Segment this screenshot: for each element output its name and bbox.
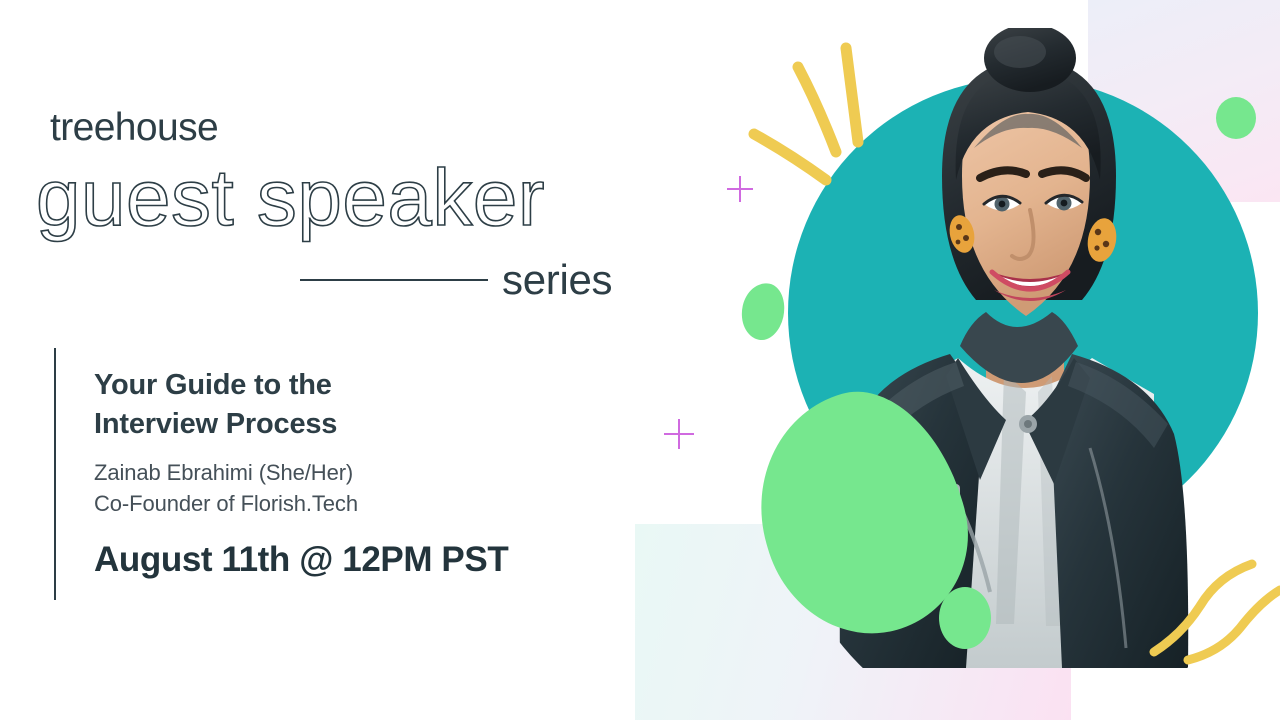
speaker-portrait [790,28,1260,668]
promo-text-column: treehouse guest speaker series Your Guid… [0,0,680,720]
speaker-name: Zainab Ebrahimi (She/Her) [94,457,508,488]
session-info-block: Your Guide to the Interview Process Zain… [54,348,508,600]
headline-guest-speaker: guest speaker [36,158,545,238]
speaker-role: Co-Founder of Florish.Tech [94,488,508,519]
brand-wordmark: treehouse [50,108,218,147]
green-blob-small-icon [737,279,790,343]
series-label: series [502,259,612,301]
series-divider-rule [300,279,488,281]
series-row: series [300,252,630,308]
speaker-portrait-image [790,28,1260,668]
session-title: Your Guide to the Interview Process [94,366,508,443]
promo-banner: treehouse guest speaker series Your Guid… [0,0,1280,720]
plus-mark-icon-upper [727,176,753,202]
event-datetime: August 11th @ 12PM PST [94,542,508,577]
